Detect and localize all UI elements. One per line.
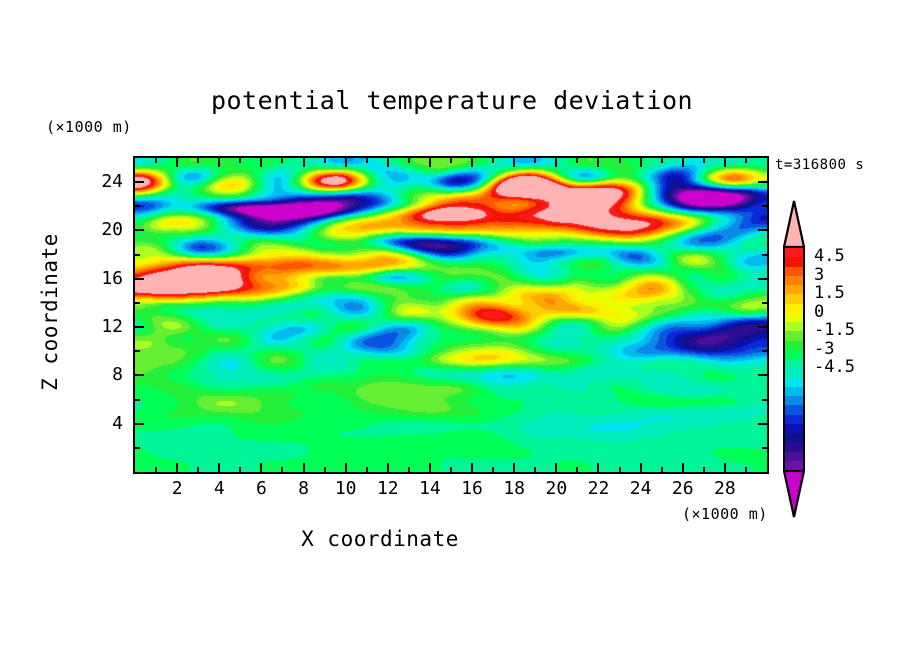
tick-x-top-20	[555, 158, 557, 167]
tick-y-22	[135, 205, 140, 207]
tick-x-10	[345, 463, 347, 472]
colorbar-band	[785, 415, 803, 424]
tick-y-18	[135, 254, 140, 256]
tick-x-top-9	[324, 158, 326, 163]
tick-x-9	[324, 467, 326, 472]
tick-y-right-6	[762, 399, 767, 401]
tick-y-right-18	[762, 254, 767, 256]
yaxis-tick-label: 20	[79, 219, 123, 240]
xaxis-tick-label: 28	[705, 478, 745, 499]
tick-y-right-24	[758, 181, 767, 183]
yaxis-title: Z coordinate	[38, 202, 62, 422]
colorbar-band	[785, 257, 803, 266]
xaxis-tick-label: 14	[410, 478, 450, 499]
tick-x-27	[703, 467, 705, 472]
tick-x-top-23	[619, 158, 621, 163]
colorbar-band	[785, 378, 803, 387]
tick-x-16	[471, 463, 473, 472]
colorbar-tick-label: 1.5	[814, 283, 845, 303]
colorbar-band	[785, 461, 803, 470]
yaxis-tick-label: 4	[79, 413, 123, 434]
tick-x-top-19	[534, 158, 536, 163]
yaxis-tick-label: 16	[79, 268, 123, 289]
xaxis-tick-label: 2	[157, 478, 197, 499]
tick-y-right-14	[762, 302, 767, 304]
colorbar-bands	[783, 246, 805, 472]
tick-y-right-8	[758, 374, 767, 376]
colorbar-band	[785, 424, 803, 433]
tick-x-19	[534, 467, 536, 472]
tick-x-top-25	[661, 158, 663, 163]
colorbar-band	[785, 331, 803, 340]
tick-x-8	[303, 463, 305, 472]
xaxis-tick-label: 24	[621, 478, 661, 499]
xaxis-tick-label: 22	[578, 478, 618, 499]
colorbar-tick-label: 4.5	[814, 246, 845, 266]
tick-y-right-20	[758, 229, 767, 231]
xaxis-tick-label: 20	[536, 478, 576, 499]
tick-x-1	[155, 467, 157, 472]
contour-plot-area	[133, 156, 769, 474]
colorbar-band	[785, 452, 803, 461]
tick-x-top-28	[724, 158, 726, 167]
tick-x-top-1	[155, 158, 157, 163]
tick-x-6	[260, 463, 262, 472]
xaxis-tick-label: 18	[494, 478, 534, 499]
tick-x-top-18	[513, 158, 515, 167]
tick-x-23	[619, 467, 621, 472]
colorbar-band	[785, 433, 803, 442]
xaxis-tick-label: 6	[241, 478, 281, 499]
tick-x-12	[387, 463, 389, 472]
tick-x-top-24	[640, 158, 642, 167]
tick-y-20	[135, 229, 144, 231]
tick-x-14	[429, 463, 431, 472]
tick-x-top-10	[345, 158, 347, 167]
time-stamp-label: t=316800 s	[775, 157, 864, 173]
tick-y-right-16	[758, 278, 767, 280]
zaxis-unit-label: (×1000 m)	[46, 118, 132, 136]
tick-x-11	[366, 467, 368, 472]
tick-x-3	[197, 467, 199, 472]
tick-x-18	[513, 463, 515, 472]
colorbar-band	[785, 276, 803, 285]
tick-y-right-4	[758, 423, 767, 425]
tick-x-13	[408, 467, 410, 472]
tick-y-12	[135, 326, 144, 328]
tick-x-top-5	[239, 158, 241, 163]
yaxis-tick-label: 12	[79, 316, 123, 337]
colorbar-band	[785, 396, 803, 405]
tick-x-22	[597, 463, 599, 472]
xaxis-tick-label: 16	[452, 478, 492, 499]
tick-x-7	[281, 467, 283, 472]
tick-x-21	[576, 467, 578, 472]
colorbar-band	[785, 313, 803, 322]
tick-x-28	[724, 463, 726, 472]
tick-x-26	[682, 463, 684, 472]
tick-y-10	[135, 350, 140, 352]
xaxis-tick-label: 8	[284, 478, 324, 499]
tick-x-top-3	[197, 158, 199, 163]
tick-y-2	[135, 447, 140, 449]
tick-y-8	[135, 374, 144, 376]
colorbar-band	[785, 405, 803, 414]
colorbar-over-arrow	[783, 200, 805, 248]
tick-x-top-6	[260, 158, 262, 167]
colorbar-band	[785, 304, 803, 313]
colorbar-band	[785, 368, 803, 377]
xaxis-unit-label: (×1000 m)	[682, 505, 768, 523]
tick-y-16	[135, 278, 144, 280]
yaxis-tick-label: 8	[79, 364, 123, 385]
xaxis-tick-label: 12	[368, 478, 408, 499]
tick-x-top-4	[218, 158, 220, 167]
tick-x-29	[745, 467, 747, 472]
tick-x-top-15	[450, 158, 452, 163]
tick-x-top-29	[745, 158, 747, 163]
tick-y-6	[135, 399, 140, 401]
tick-x-top-16	[471, 158, 473, 167]
xaxis-title: X coordinate	[0, 527, 760, 551]
temperature-deviation-field	[135, 158, 767, 472]
colorbar-band	[785, 294, 803, 303]
tick-y-right-12	[758, 326, 767, 328]
colorbar-tick-label: 0	[814, 302, 824, 322]
tick-x-top-2	[176, 158, 178, 167]
tick-x-top-27	[703, 158, 705, 163]
tick-y-right-10	[762, 350, 767, 352]
tick-x-15	[450, 467, 452, 472]
tick-x-5	[239, 467, 241, 472]
colorbar-band	[785, 248, 803, 257]
tick-y-14	[135, 302, 140, 304]
colorbar-band	[785, 267, 803, 276]
colorbar-tick-label: -4.5	[814, 357, 855, 377]
colorbar-under-arrow	[783, 470, 805, 518]
tick-x-top-13	[408, 158, 410, 163]
colorbar: 4.531.50-1.5-3-4.5	[781, 200, 807, 518]
tick-x-top-8	[303, 158, 305, 167]
tick-x-top-21	[576, 158, 578, 163]
colorbar-band	[785, 322, 803, 331]
tick-y-right-22	[762, 205, 767, 207]
tick-y-4	[135, 423, 144, 425]
xaxis-tick-label: 26	[663, 478, 703, 499]
colorbar-band	[785, 387, 803, 396]
tick-x-4	[218, 463, 220, 472]
tick-x-top-17	[492, 158, 494, 163]
colorbar-band	[785, 341, 803, 350]
tick-x-top-7	[281, 158, 283, 163]
colorbar-band	[785, 359, 803, 368]
tick-x-top-11	[366, 158, 368, 163]
tick-x-2	[176, 463, 178, 472]
colorbar-tick-label: -3	[814, 339, 834, 359]
colorbar-tick-label: 3	[814, 265, 824, 285]
tick-y-24	[135, 181, 144, 183]
yaxis-tick-label: 24	[79, 171, 123, 192]
tick-x-24	[640, 463, 642, 472]
tick-x-20	[555, 463, 557, 472]
colorbar-band	[785, 285, 803, 294]
tick-x-25	[661, 467, 663, 472]
colorbar-band	[785, 350, 803, 359]
tick-x-top-22	[597, 158, 599, 167]
page-title: potential temperature deviation	[0, 86, 904, 115]
tick-y-right-2	[762, 447, 767, 449]
tick-x-top-12	[387, 158, 389, 167]
xaxis-tick-label: 10	[326, 478, 366, 499]
colorbar-band	[785, 442, 803, 451]
tick-x-top-14	[429, 158, 431, 167]
plot-canvas-root: potential temperature deviation (×1000 m…	[0, 0, 904, 654]
colorbar-tick-label: -1.5	[814, 320, 855, 340]
xaxis-tick-label: 4	[199, 478, 239, 499]
tick-x-17	[492, 467, 494, 472]
tick-x-top-26	[682, 158, 684, 167]
